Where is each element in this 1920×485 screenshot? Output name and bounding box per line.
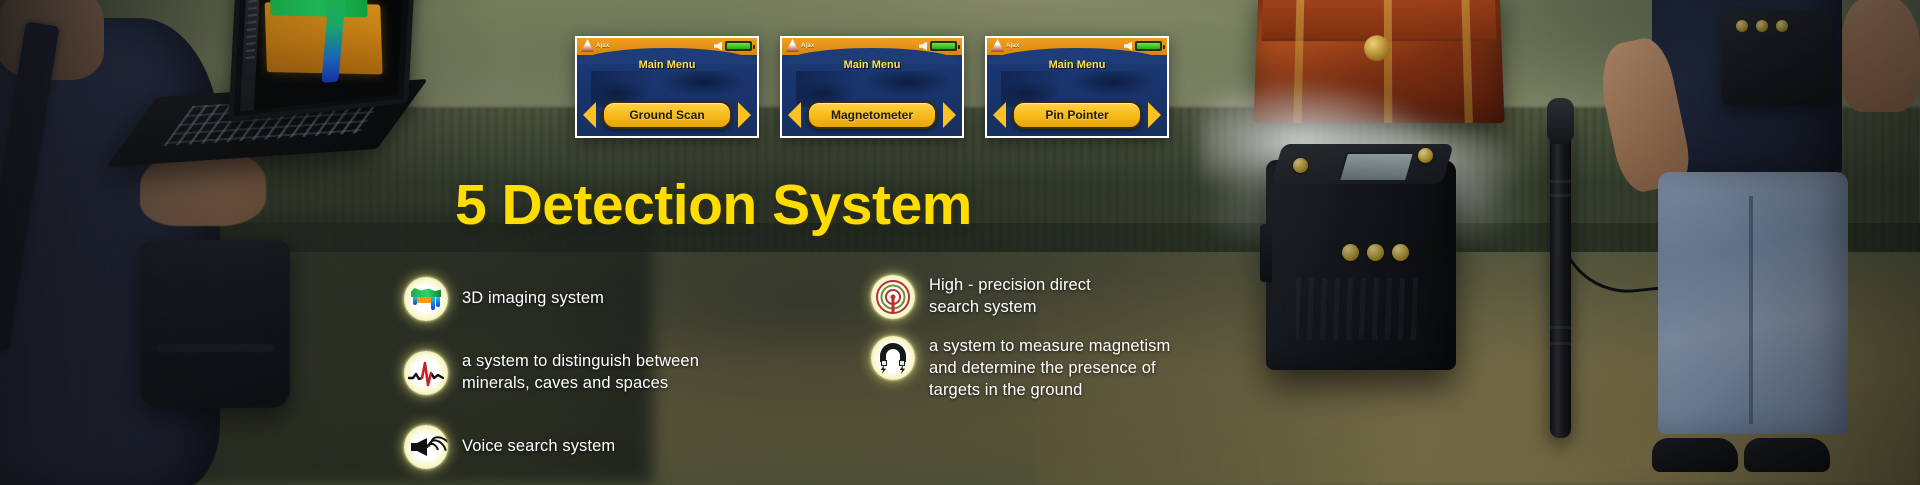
feature-text: a system to distinguish between minerals… [462,351,699,395]
brand-mark-icon [991,39,1004,52]
radar-signal-icon [871,275,915,319]
panel-title: Main Menu [782,59,962,71]
device-panel-ground-scan[interactable]: Ajax Main Menu Ground Scan [575,36,759,138]
panel-logo-text: Ajax [1006,43,1019,49]
feature-list: 3D imaging system a system to distinguis… [404,262,1170,484]
arrow-right-icon[interactable] [1148,102,1161,128]
panel-logo-text: Ajax [596,43,609,49]
feature-item-mineral-distinction: a system to distinguish between minerals… [404,336,699,410]
panel-title: Main Menu [987,59,1167,71]
battery-icon [1135,41,1162,51]
panel-mode-selector[interactable]: Ground Scan [577,101,757,129]
panel-logo-text: Ajax [801,43,814,49]
battery-icon [725,41,752,51]
panel-brand-logo: Ajax [581,39,609,52]
volume-icon [919,42,927,51]
feature-text: High - precision direct search system [929,275,1091,319]
arrow-left-icon[interactable] [583,102,596,128]
device-panel-pin-pointer[interactable]: Ajax Main Menu Pin Pointer [985,36,1169,138]
feature-column-left: 3D imaging system a system to distinguis… [404,262,699,484]
panel-mode-selector[interactable]: Magnetometer [782,101,962,129]
feature-text: 3D imaging system [462,288,604,310]
volume-icon [1124,42,1132,51]
device-panel-magnetometer[interactable]: Ajax Main Menu Magnetometer [780,36,964,138]
panel-title: Main Menu [577,59,757,71]
feature-item-voice-search: Voice search system [404,410,699,484]
magnet-icon [871,336,915,380]
waveform-icon [404,351,448,395]
battery-icon [930,41,957,51]
arrow-left-icon[interactable] [993,102,1006,128]
panel-brand-logo: Ajax [991,39,1019,52]
feature-item-high-precision: High - precision direct search system [871,262,1170,332]
panel-brand-logo: Ajax [786,39,814,52]
mode-button[interactable]: Ground Scan [602,101,732,129]
device-screen-panels: Ajax Main Menu Ground Scan Ajax [575,36,1169,138]
detection-system-banner: Ajax Main Menu Ground Scan Ajax [0,0,1920,485]
mode-button[interactable]: Pin Pointer [1012,101,1142,129]
brand-mark-icon [581,39,594,52]
speaker-icon [404,425,448,469]
feature-item-magnetism: a system to measure magnetism and determ… [871,332,1170,406]
volume-icon [714,42,722,51]
brand-mark-icon [786,39,799,52]
feature-item-3d-imaging: 3D imaging system [404,262,699,336]
arrow-right-icon[interactable] [943,102,956,128]
panel-status-indicators [1124,41,1162,51]
waveform-glyph [408,359,444,387]
3d-imaging-icon [404,277,448,321]
panel-mode-selector[interactable]: Pin Pointer [987,101,1167,129]
arrow-right-icon[interactable] [738,102,751,128]
page-title: 5 Detection System [455,172,972,238]
feature-column-right: High - precision direct search system a … [871,262,1170,484]
panel-status-indicators [714,41,752,51]
arrow-left-icon[interactable] [788,102,801,128]
mode-button[interactable]: Magnetometer [807,101,937,129]
panel-status-indicators [919,41,957,51]
feature-text: a system to measure magnetism and determ… [929,336,1170,401]
feature-text: Voice search system [462,436,615,458]
